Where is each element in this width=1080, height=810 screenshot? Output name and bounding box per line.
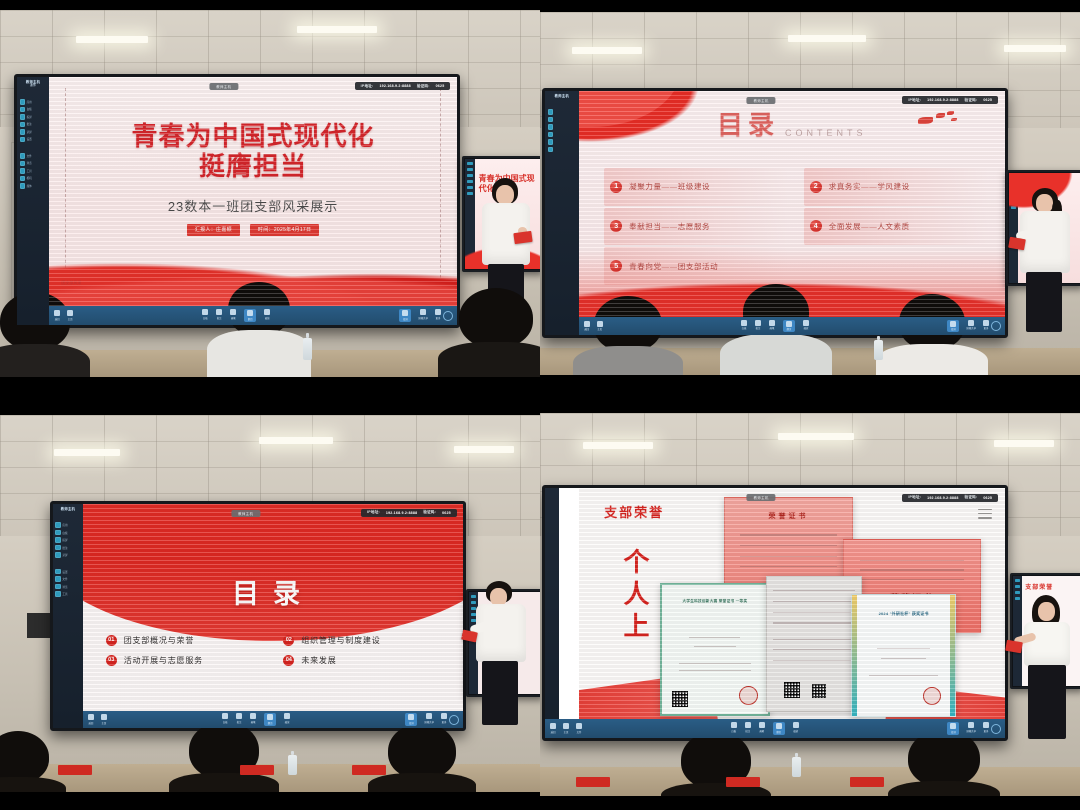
tool-label: 更多 xyxy=(984,729,989,733)
tool-label: 画笔 xyxy=(770,326,775,330)
home-label: 主页 xyxy=(597,327,602,331)
teacher-host-chip[interactable]: 教师主机 xyxy=(231,510,260,517)
home-icon xyxy=(597,321,603,327)
slide-badges: 汇报人：庄嘉颖 时间：2025年4月17日 xyxy=(49,224,457,236)
more-button[interactable]: 更多 xyxy=(983,722,989,735)
ip-value: 192.168.9.2:8888 xyxy=(386,511,417,515)
official-seal xyxy=(923,687,941,705)
zoom-button[interactable]: 缩放 xyxy=(264,309,270,322)
rail-item-label: 白板 xyxy=(27,107,32,111)
name-plate xyxy=(58,765,92,775)
item-number: 01 xyxy=(106,635,117,646)
heading-en: CONTENTS xyxy=(785,128,867,142)
rail-item-0[interactable]: 应用 xyxy=(55,522,80,528)
cast-button[interactable]: 投屏 xyxy=(947,722,959,735)
contents-item[interactable]: 1凝聚力量——班级建设 xyxy=(604,168,788,206)
letterbox-top xyxy=(540,405,1080,413)
audience-student xyxy=(374,723,470,801)
home-button[interactable]: 主页 xyxy=(101,714,107,725)
page-button[interactable]: 翻页 xyxy=(773,722,785,735)
rail-item-5[interactable]: 设置 xyxy=(55,569,80,575)
rail-item-9[interactable]: 相机 xyxy=(20,176,47,182)
zoom-button[interactable]: 缩放 xyxy=(793,722,799,735)
rail-item-8[interactable]: 工具 xyxy=(55,591,80,597)
interactive-whiteboard[interactable]: 支部荣誉 个人上 荣誉证书 获奖证书 xyxy=(542,485,1008,741)
whiteboard-button[interactable]: 白板 xyxy=(741,320,747,333)
file-icon xyxy=(576,723,582,729)
rail-item-label: 投屏 xyxy=(62,538,67,542)
whiteboard-icon xyxy=(55,530,61,536)
rail-item-label: 批注 xyxy=(27,122,32,126)
home-button[interactable]: 主页 xyxy=(597,321,603,332)
ip-status-bar: IP地址: 192.168.9.2:8888 验证码: 0625 xyxy=(902,494,998,502)
whiteboard-side-rail[interactable]: 教师主机 xyxy=(545,91,579,335)
back-icon xyxy=(88,714,94,720)
whiteboard-bottom-bar[interactable]: 返回 主页 白板 批注 画笔 翻页 缩放 投屏 屏幕共享 更多 xyxy=(83,711,463,728)
annotate-icon xyxy=(55,545,61,551)
presenter xyxy=(1016,595,1080,751)
title-line-1: 青春为中国式现代化 xyxy=(49,121,457,152)
contents-item[interactable]: 04未来发展 xyxy=(283,655,444,666)
home-label: 主页 xyxy=(102,721,107,725)
interactive-whiteboard[interactable]: CONTENT 目录 01团支部概况与荣誉 02组织管理与制度建设 03活动开展… xyxy=(50,501,466,731)
tool-label: 缩放 xyxy=(285,720,290,724)
tool-label: 投屏 xyxy=(951,327,956,331)
page-icon xyxy=(247,310,253,316)
tool-label: 投屏 xyxy=(409,721,414,725)
rail-title: 教师主机 xyxy=(61,507,75,511)
page-button[interactable]: 翻页 xyxy=(783,320,795,333)
contents-list: 1凝聚力量——班级建设 2求真务实——学风建设 3奉献担当——志愿服务 4全面发… xyxy=(604,168,988,285)
item-text: 全面发展——人文素质 xyxy=(829,221,910,232)
whiteboard-icon xyxy=(548,117,554,123)
ip-status-bar: IP地址: 192.168.9.2:8888 验证码: 0625 xyxy=(902,96,998,104)
whiteboard-side-rail[interactable] xyxy=(545,488,559,738)
rail-item-6[interactable]: 文件 xyxy=(55,576,80,582)
letterbox-bottom xyxy=(540,375,1080,405)
honors-vertical-text: 个人上 xyxy=(617,548,652,644)
rail-item-label: 录屏 xyxy=(27,130,32,134)
teacher-host-chip[interactable]: 教师主机 xyxy=(747,97,776,104)
media-icon xyxy=(20,183,26,189)
annotate-icon xyxy=(745,722,751,728)
contents-item[interactable]: 01团支部概况与荣誉 xyxy=(106,635,267,646)
back-icon xyxy=(584,321,590,327)
rail-item-label: 投屏 xyxy=(27,115,32,119)
qr-code xyxy=(812,684,826,698)
whiteboard-icon xyxy=(20,107,26,113)
item-number: 02 xyxy=(283,635,294,646)
letterbox-top xyxy=(0,0,540,10)
cast-button[interactable]: 投屏 xyxy=(399,309,411,322)
code-label: 验证码: xyxy=(423,510,436,515)
ceiling-light xyxy=(788,35,866,42)
item-text: 团支部概况与荣誉 xyxy=(124,635,194,646)
contents-item[interactable]: 02组织管理与制度建设 xyxy=(283,635,444,646)
rail-item-label: 应用 xyxy=(62,523,67,527)
tool-label: 更多 xyxy=(436,316,441,320)
back-icon xyxy=(550,723,556,729)
gear-icon xyxy=(20,137,26,143)
slide-watermark: 团支部风采 xyxy=(61,280,81,286)
certificate-white: 2024 "外研社杯" 获奖证书 xyxy=(851,594,955,716)
tool-label: 缩放 xyxy=(793,729,798,733)
rail-item-1[interactable]: 白板 xyxy=(20,107,47,113)
contents-item[interactable]: 2求真务实——学风建设 xyxy=(804,168,988,206)
item-text: 青春向党——团支部活动 xyxy=(629,261,718,272)
rail-item-label: 浏览 xyxy=(62,585,67,589)
tool-label: 翻页 xyxy=(776,730,781,734)
annotate-icon xyxy=(548,132,554,138)
contents-item[interactable]: 5青春向党——团支部活动 xyxy=(604,247,788,285)
zoom-icon xyxy=(803,320,809,326)
contents-list: 01团支部概况与荣誉 02组织管理与制度建设 03活动开展与志愿服务 04未来发… xyxy=(106,635,444,666)
rail-item-3[interactable] xyxy=(548,132,576,138)
cast-icon xyxy=(402,310,408,316)
annotate-button[interactable]: 批注 xyxy=(745,722,751,735)
audience-student xyxy=(176,721,272,799)
rail-item-7[interactable]: 浏览 xyxy=(55,584,80,590)
slide-subtitle: 23数本一班团支部风采展示 xyxy=(49,196,457,215)
browser-icon xyxy=(55,584,61,590)
hamburger-menu-icon[interactable] xyxy=(978,509,992,522)
pen-icon xyxy=(759,722,765,728)
tool-label: 批注 xyxy=(756,326,761,330)
ceiling-light xyxy=(778,433,854,440)
back-button[interactable]: 返回 xyxy=(550,723,556,734)
back-button[interactable]: 返回 xyxy=(88,714,94,725)
share-icon xyxy=(968,320,974,326)
ceiling-light xyxy=(76,36,148,43)
file-icon xyxy=(20,153,26,159)
tool-label: 投屏 xyxy=(951,730,956,734)
whiteboard-bottom-bar[interactable]: 返回 主页 白板 批注 画笔 翻页 缩放 投屏 屏幕共享 更多 xyxy=(579,317,1005,335)
photo-grid: 青春为中国式现代化 挺膺担当 23数本一班团支部风采展示 汇报人：庄嘉颖 时间：… xyxy=(0,0,1080,810)
record-icon xyxy=(20,129,26,135)
rail-item-4[interactable]: 录屏 xyxy=(55,552,80,558)
title-line-2: 挺膺担当 xyxy=(49,151,457,182)
code-value: 0625 xyxy=(983,98,992,102)
share-icon xyxy=(420,309,426,315)
whiteboard-side-rail[interactable]: 教师主机 课件 应用 白板 投屏 批注 录屏 设置 文件 浏览 工具 相机 媒体 xyxy=(17,77,49,325)
pen-button[interactable]: 画笔 xyxy=(769,320,775,333)
rail-item-5[interactable]: 设置 xyxy=(20,137,47,143)
rail-item-1[interactable] xyxy=(548,117,576,123)
teacher-host-chip[interactable]: 教师主机 xyxy=(747,494,776,501)
bottom-left-group: 返回 主页 xyxy=(49,310,73,321)
slide-title-text: 青春为中国式现代化 挺膺担当 xyxy=(49,121,457,182)
pen-button[interactable]: 画笔 xyxy=(759,722,765,735)
rail-item-7[interactable]: 浏览 xyxy=(20,161,47,167)
tool-label: 画笔 xyxy=(759,729,764,733)
qr-code xyxy=(672,691,688,707)
presenter-face xyxy=(496,185,514,205)
tool-label: 翻页 xyxy=(248,317,253,321)
rail-item-2[interactable]: 投屏 xyxy=(55,537,80,543)
presenter-badge: 汇报人：庄嘉颖 xyxy=(187,224,240,236)
share-icon xyxy=(968,722,974,728)
item-number: 5 xyxy=(610,260,622,272)
student-head xyxy=(0,731,49,783)
presenter-face xyxy=(1038,602,1055,621)
annotate-button[interactable]: 批注 xyxy=(216,309,222,322)
whiteboard-side-rail[interactable]: 教师主机 应用 白板 投屏 批注 录屏 设置 文件 浏览 工具 xyxy=(53,504,83,728)
tool-label: 白板 xyxy=(203,316,208,320)
whiteboard-bottom-bar[interactable]: 返回 主页 文件 白板 批注 画笔 翻页 缩放 投屏 屏幕共享 更多 xyxy=(545,719,1005,738)
whiteboard-icon xyxy=(202,309,208,315)
zoom-button[interactable]: 缩放 xyxy=(803,320,809,333)
home-label: 主页 xyxy=(68,317,73,321)
bottom-left-group: 返回 主页 xyxy=(579,321,603,332)
app-icon xyxy=(55,522,61,528)
whiteboard-screen: CONTENT 目录 01团支部概况与荣誉 02组织管理与制度建设 03活动开展… xyxy=(53,504,463,728)
honors-heading: 支部荣誉 xyxy=(604,502,664,521)
home-label: 主页 xyxy=(564,730,569,734)
pen-icon xyxy=(250,713,256,719)
water-bottle xyxy=(288,755,297,775)
home-button[interactable]: 主页 xyxy=(67,310,73,321)
name-plate xyxy=(352,765,386,775)
tool-label: 缩放 xyxy=(804,326,809,330)
home-icon xyxy=(563,723,569,729)
item-number: 4 xyxy=(810,220,822,232)
tool-label: 翻页 xyxy=(268,721,273,725)
annotate-icon xyxy=(236,713,242,719)
rail-item-label: 浏览 xyxy=(27,161,32,165)
tools-icon xyxy=(20,168,26,174)
ip-label: IP地址: xyxy=(361,84,374,89)
brand-logo-icon xyxy=(991,321,1001,331)
record-icon xyxy=(55,552,61,558)
pen-button[interactable]: 画笔 xyxy=(230,309,236,322)
browser-icon xyxy=(20,161,26,167)
rail-item-2[interactable] xyxy=(548,124,576,130)
rail-item-label: 工具 xyxy=(62,592,67,596)
tool-label: 翻页 xyxy=(787,327,792,331)
name-plate xyxy=(576,777,610,787)
whiteboard-button[interactable]: 白板 xyxy=(731,722,737,735)
rail-item-0[interactable]: 应用 xyxy=(20,99,47,105)
tool-label: 批注 xyxy=(745,729,750,733)
item-number: 03 xyxy=(106,655,117,666)
cast-icon xyxy=(20,114,26,120)
presenter-skirt xyxy=(1028,665,1066,739)
rail-title-text: 教师主机 xyxy=(61,507,75,511)
rail-item-label: 录屏 xyxy=(62,553,67,557)
brand-logo-icon xyxy=(991,724,1001,734)
back-label: 返回 xyxy=(551,730,556,734)
tool-label: 更多 xyxy=(442,720,447,724)
tool-label: 屏幕共享 xyxy=(424,720,434,724)
slide-title: 青春为中国式现代化 挺膺担当 23数本一班团支部风采展示 汇报人：庄嘉颖 时间：… xyxy=(49,77,457,306)
panel-title-slide: 青春为中国式现代化 挺膺担当 23数本一班团支部风采展示 汇报人：庄嘉颖 时间：… xyxy=(0,0,540,405)
gear-icon xyxy=(55,569,61,575)
ip-status-bar: IP地址: 192.168.9.2:8888 验证码: 0625 xyxy=(361,509,457,517)
rail-item-1[interactable]: 白板 xyxy=(55,530,80,536)
water-bottle xyxy=(792,757,801,777)
panel-contents-a: 目录 CONTENTS 1凝聚力量——班级建设 2求真务实——学风建设 3奉献担… xyxy=(540,0,1080,405)
rail-item-2[interactable]: 投屏 xyxy=(20,114,47,120)
rail-item-3[interactable]: 批注 xyxy=(20,122,47,128)
tool-label: 批注 xyxy=(237,720,242,724)
rail-item-4[interactable]: 录屏 xyxy=(20,129,47,135)
contents-item[interactable]: 3奉献担当——志愿服务 xyxy=(604,208,788,246)
more-button[interactable]: 更多 xyxy=(983,320,989,333)
page-icon xyxy=(267,714,273,720)
item-text: 活动开展与志愿服务 xyxy=(124,655,203,666)
letterbox-top xyxy=(0,405,540,415)
panel-honors: 支部荣誉 个人上 荣誉证书 获奖证书 xyxy=(540,405,1080,810)
share-button[interactable]: 屏幕共享 xyxy=(966,722,976,735)
slide-honors: 支部荣誉 个人上 荣誉证书 获奖证书 xyxy=(579,488,1005,719)
more-icon xyxy=(435,309,441,315)
rail-item-8[interactable]: 工具 xyxy=(20,168,47,174)
audience-student xyxy=(446,288,540,380)
more-button[interactable]: 更多 xyxy=(441,713,447,726)
zoom-icon xyxy=(284,713,290,719)
tool-label: 屏幕共享 xyxy=(966,729,976,733)
contents-item[interactable]: 03活动开展与志愿服务 xyxy=(106,655,267,666)
back-button[interactable]: 返回 xyxy=(54,310,60,321)
tool-label: 白板 xyxy=(731,729,736,733)
tool-label: 画笔 xyxy=(251,720,256,724)
bottom-mid-group: 白板 批注 画笔 翻页 缩放 xyxy=(731,722,799,735)
student-head xyxy=(459,288,533,348)
whiteboard-button[interactable]: 白板 xyxy=(202,309,208,322)
brand-logo-icon xyxy=(443,311,453,321)
whiteboard-icon xyxy=(741,320,747,326)
more-icon xyxy=(983,320,989,326)
cast-icon xyxy=(950,321,956,327)
code-value: 0625 xyxy=(436,84,445,88)
ip-value: 192.168.9.2:8888 xyxy=(927,98,958,102)
home-icon xyxy=(67,310,73,316)
tool-label: 屏幕共享 xyxy=(418,316,428,320)
back-label: 返回 xyxy=(584,327,589,331)
cast-icon xyxy=(548,124,554,130)
zoom-icon xyxy=(264,309,270,315)
home-button[interactable]: 主页 xyxy=(563,723,569,734)
rail-item-0[interactable] xyxy=(548,109,576,115)
record-icon xyxy=(548,139,554,145)
letterbox-top xyxy=(540,0,1080,12)
whiteboard-icon xyxy=(222,713,228,719)
rail-item-label: 相机 xyxy=(27,176,32,180)
back-button[interactable]: 返回 xyxy=(584,321,590,332)
rail-item-5[interactable] xyxy=(548,147,576,153)
ceiling-light xyxy=(1004,45,1066,52)
more-button[interactable]: 更多 xyxy=(435,309,441,322)
page-button[interactable]: 翻页 xyxy=(264,713,276,726)
cast-icon xyxy=(408,714,414,720)
whiteboard-button[interactable]: 白板 xyxy=(222,713,228,726)
share-button[interactable]: 屏幕共享 xyxy=(424,713,434,726)
app-icon xyxy=(20,99,26,105)
annotate-button[interactable]: 批注 xyxy=(236,713,242,726)
rail-item-label: 工具 xyxy=(27,169,32,173)
teacher-host-chip[interactable]: 教师主机 xyxy=(209,83,238,90)
contents-item[interactable]: 4全面发展——人文素质 xyxy=(804,208,988,246)
cast-button[interactable]: 投屏 xyxy=(405,713,417,726)
annotate-icon xyxy=(216,309,222,315)
name-plate xyxy=(850,777,884,787)
ceiling-light xyxy=(994,440,1054,447)
tool-label: 批注 xyxy=(217,316,222,320)
name-plate xyxy=(726,777,760,787)
water-bottle xyxy=(874,340,883,360)
item-number: 1 xyxy=(610,181,622,193)
audience-student xyxy=(0,731,60,801)
rail-item-label: 媒体 xyxy=(27,184,32,188)
page-button[interactable]: 翻页 xyxy=(244,309,256,322)
rail-item-10[interactable]: 媒体 xyxy=(20,183,47,189)
cast-button[interactable]: 投屏 xyxy=(947,320,959,333)
tool-label: 缩放 xyxy=(265,316,270,320)
annotate-button[interactable]: 批注 xyxy=(755,320,761,333)
tool-label: 白板 xyxy=(742,326,747,330)
student-body xyxy=(207,330,311,378)
share-button[interactable]: 屏幕共享 xyxy=(418,309,428,322)
share-button[interactable]: 屏幕共享 xyxy=(966,320,976,333)
birds-graphic xyxy=(918,111,958,129)
more-icon xyxy=(441,713,447,719)
ip-value: 192.168.9.2:8888 xyxy=(927,496,958,500)
file-label: 文件 xyxy=(577,730,582,734)
brand-logo-icon xyxy=(449,715,459,725)
bottom-mid-group: 白板 批注 画笔 翻页 缩放 xyxy=(222,713,290,726)
qr-code xyxy=(784,682,800,698)
pen-icon xyxy=(230,309,236,315)
code-label: 验证码: xyxy=(965,98,978,103)
annotate-icon xyxy=(20,122,26,128)
page-icon xyxy=(786,321,792,327)
presenter xyxy=(470,581,540,741)
file-icon xyxy=(55,576,61,582)
rail-item-label: 批注 xyxy=(62,546,67,550)
rail-item-label: 设置 xyxy=(27,137,32,141)
rail-item-label: 文件 xyxy=(62,577,67,581)
ip-status-bar: IP地址: 192.168.9.2:8888 验证码: 0625 xyxy=(355,82,451,90)
code-value: 0625 xyxy=(983,496,992,500)
certificate-green: 大学生科技创新大赛 荣誉证书 一等奖 xyxy=(660,583,771,717)
item-number: 2 xyxy=(810,181,822,193)
ip-value: 192.168.9.2:8888 xyxy=(379,84,410,88)
date-badge: 时间：2025年4月17日 xyxy=(250,224,319,236)
item-number: 3 xyxy=(610,220,622,232)
rail-title: 教师主机 课件 xyxy=(26,80,40,88)
heading-cn: 目录 xyxy=(717,105,779,142)
panel-contents-b: CONTENT 目录 01团支部概况与荣誉 02组织管理与制度建设 03活动开展… xyxy=(0,405,540,810)
tool-label: 画笔 xyxy=(231,316,236,320)
rail-item-4[interactable] xyxy=(548,139,576,145)
rail-title-text: 教师主机 xyxy=(555,94,569,98)
rail-item-6[interactable]: 文件 xyxy=(20,153,47,159)
certificate-form xyxy=(766,576,862,712)
certificate-title: 大学生科技创新大赛 荣誉证书 一等奖 xyxy=(662,599,769,604)
side-monitor-title: 支部荣誉 xyxy=(1025,585,1078,593)
heading-cn: 目录 xyxy=(83,572,463,611)
tool-label: 白板 xyxy=(223,720,228,724)
zoom-button[interactable]: 缩放 xyxy=(284,713,290,726)
pen-button[interactable]: 画笔 xyxy=(250,713,256,726)
file-button[interactable]: 文件 xyxy=(576,723,582,734)
slide-contents: CONTENT 目录 01团支部概况与荣誉 02组织管理与制度建设 03活动开展… xyxy=(83,504,463,711)
rail-item-3[interactable]: 批注 xyxy=(55,545,80,551)
share-icon xyxy=(426,713,432,719)
ip-label: IP地址: xyxy=(908,98,921,103)
whiteboard-bottom-bar[interactable]: 返回 主页 白板 批注 画笔 翻页 缩放 投屏 屏幕共享 更多 xyxy=(49,306,457,325)
audience-student xyxy=(214,282,304,372)
